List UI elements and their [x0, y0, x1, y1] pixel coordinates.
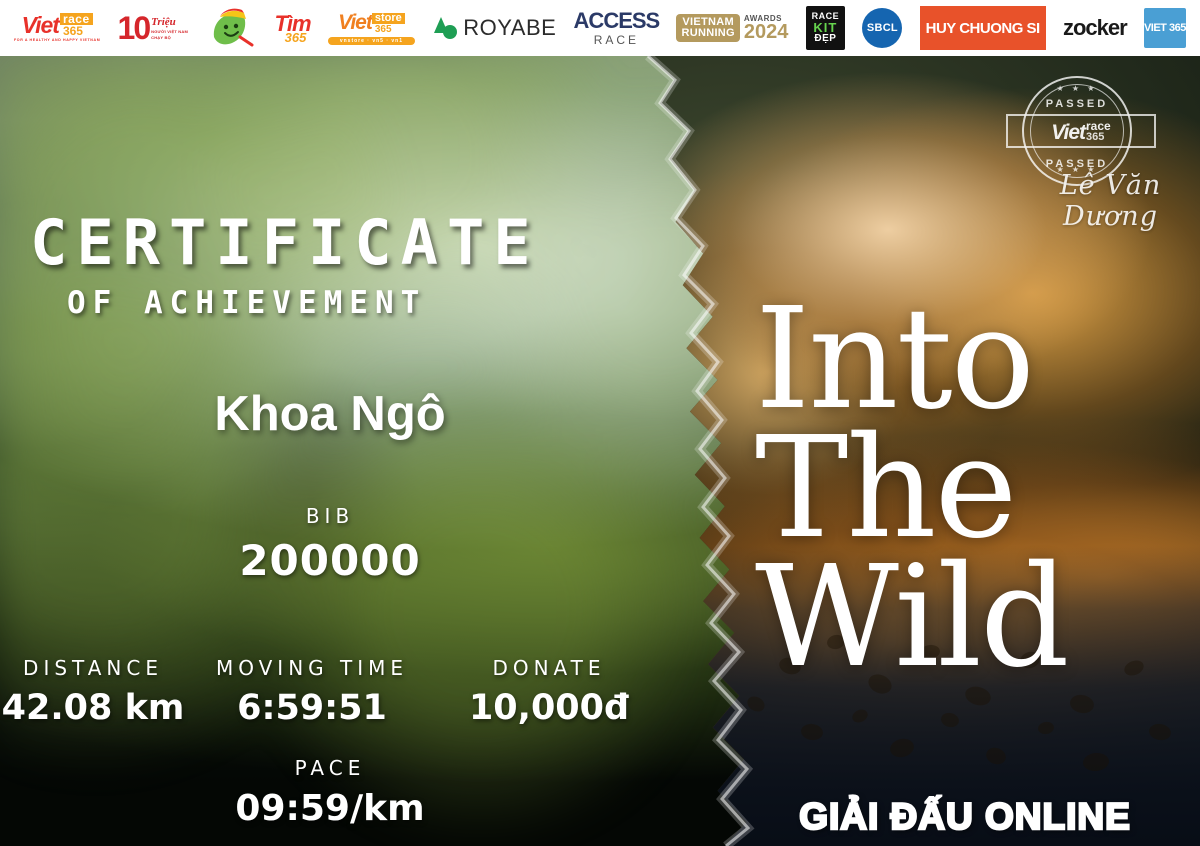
zocker-wordmark: zocker: [1063, 15, 1127, 41]
stat-donate: DONATE 10,000đ: [438, 656, 660, 728]
vietrace-365-text: 365: [60, 25, 93, 37]
vra-year-text: 2024: [744, 23, 789, 42]
vietrace-viet-text: Viet: [22, 14, 59, 37]
royabe-wordmark: ROYABE: [463, 15, 556, 41]
sponsor-logo-viet365-box[interactable]: VIET 365: [1144, 8, 1186, 48]
vietstore-365-text: 365: [372, 24, 405, 35]
rkd-line3: ĐẸP: [814, 34, 836, 44]
certificate-title-group: CERTIFICATE OF ACHIEVEMENT: [30, 212, 670, 319]
sponsor-logo-sbcl[interactable]: SBCL: [862, 6, 902, 50]
sbcl-wordmark: SBCL: [867, 22, 898, 34]
sponsor-logo-access-race[interactable]: ACCESS RACE: [574, 6, 660, 50]
moving-time-value: 6:59:51: [186, 688, 438, 728]
sponsor-logo-leaf-mascot[interactable]: [205, 6, 257, 50]
distance-label: DISTANCE: [0, 656, 186, 680]
pace-value: 09:59/km: [130, 788, 530, 829]
certificate-canvas: CERTIFICATE OF ACHIEVEMENT Khoa Ngô BIB …: [0, 56, 1200, 846]
vra-running-text: RUNNING: [681, 28, 734, 39]
certificate-title: CERTIFICATE: [30, 212, 670, 274]
vietstore-tagline: vnstore · vn5 · vn1: [328, 37, 415, 45]
sponsor-logo-10-trieu[interactable]: 10 Triệu NGƯỜI VIỆT NAM CHẠY BỘ: [118, 6, 188, 50]
certificate-page: Viet race 365 For a healthy and happy Vi…: [0, 0, 1200, 846]
sponsor-logo-vietnam-running-awards[interactable]: VIETNAM RUNNING AWARDS 2024: [676, 6, 788, 50]
donate-value: 10,000đ: [438, 688, 660, 728]
event-title-line-3: Wild: [755, 554, 1185, 683]
leaf-mascot-icon: [206, 7, 256, 49]
stat-pace: PACE 09:59/km: [130, 756, 530, 829]
sponsor-logo-timve365[interactable]: Tìm 365: [274, 6, 310, 50]
vietstore-viet-text: Viet: [338, 11, 372, 35]
hcs-wordmark: HUY CHUONG SI: [926, 20, 1040, 37]
royabe-mark-icon: [432, 15, 458, 41]
ten-million-number: 10: [118, 12, 150, 44]
sponsor-logo-huy-chuong-si[interactable]: HUY CHUONG SI: [920, 6, 1046, 50]
viet365-wordmark: VIET 365: [1144, 22, 1186, 34]
event-title: Into The Wild: [755, 296, 1185, 682]
bib-block: BIB 200000: [0, 504, 660, 585]
pace-label: PACE: [130, 756, 530, 780]
moving-time-label: MOVING TIME: [186, 656, 438, 680]
timve-365-text: 365: [285, 31, 307, 44]
sponsor-logo-royabe[interactable]: ROYABE: [432, 6, 556, 50]
ten-million-sub1: NGƯỜI VIỆT NAM: [151, 29, 188, 34]
athlete-name: Khoa Ngô: [0, 386, 660, 442]
vietrace-tagline: For a healthy and happy Vietnam: [14, 39, 100, 43]
certificate-subtitle: OF ACHIEVEMENT: [67, 288, 670, 319]
access-race-sub: RACE: [594, 34, 639, 46]
event-online-badge: GIẢI ĐẤU ONLINE: [740, 796, 1190, 838]
distance-value: 42.08 km: [0, 688, 186, 728]
bib-value: 200000: [0, 536, 660, 585]
ten-million-sub2: CHẠY BỘ: [151, 35, 188, 40]
bib-label: BIB: [0, 504, 660, 528]
donate-label: DONATE: [438, 656, 660, 680]
vietstore-store-text: store: [372, 13, 405, 24]
stats-row: DISTANCE 42.08 km MOVING TIME 6:59:51 DO…: [0, 656, 660, 728]
stat-moving-time: MOVING TIME 6:59:51: [186, 656, 438, 728]
ten-million-script: Triệu: [151, 16, 188, 28]
event-title-line-1: Into: [755, 296, 1185, 425]
stat-distance: DISTANCE 42.08 km: [0, 656, 186, 728]
sponsor-logo-vietstore365[interactable]: Viet store 365 vnstore · vn5 · vn1: [328, 6, 415, 50]
event-title-line-2: The: [755, 425, 1185, 554]
access-wordmark: ACCESS: [574, 10, 660, 32]
sponsor-logo-race-kit-dep[interactable]: RACE KIT ĐẸP: [806, 6, 846, 50]
sponsor-logo-zocker[interactable]: zocker: [1063, 6, 1127, 50]
sponsor-logo-vietrace365[interactable]: Viet race 365 For a healthy and happy Vi…: [14, 6, 100, 50]
sponsor-logo-bar: Viet race 365 For a healthy and happy Vi…: [0, 0, 1200, 56]
